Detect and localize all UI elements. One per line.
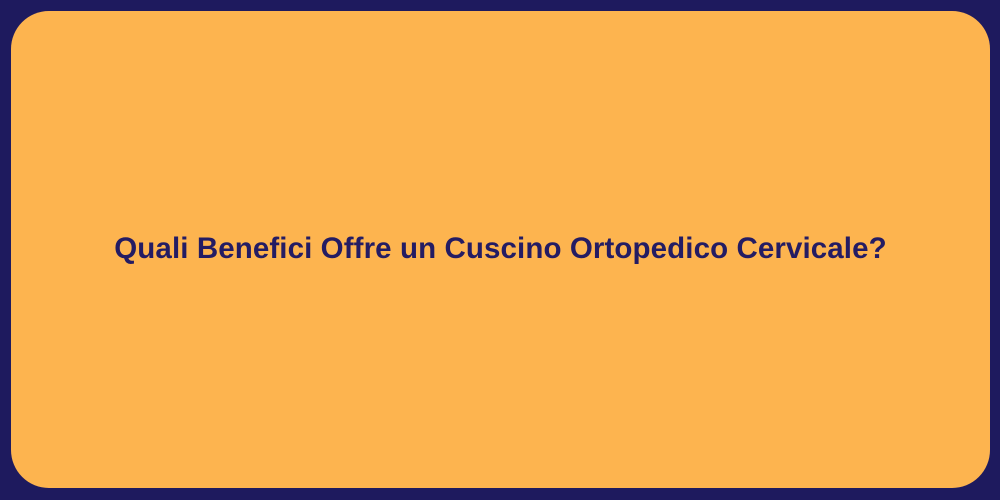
page-title: Quali Benefici Offre un Cuscino Ortopedi…	[114, 230, 886, 269]
banner-frame: Quali Benefici Offre un Cuscino Ortopedi…	[0, 0, 1000, 500]
banner-card: Quali Benefici Offre un Cuscino Ortopedi…	[11, 11, 990, 488]
